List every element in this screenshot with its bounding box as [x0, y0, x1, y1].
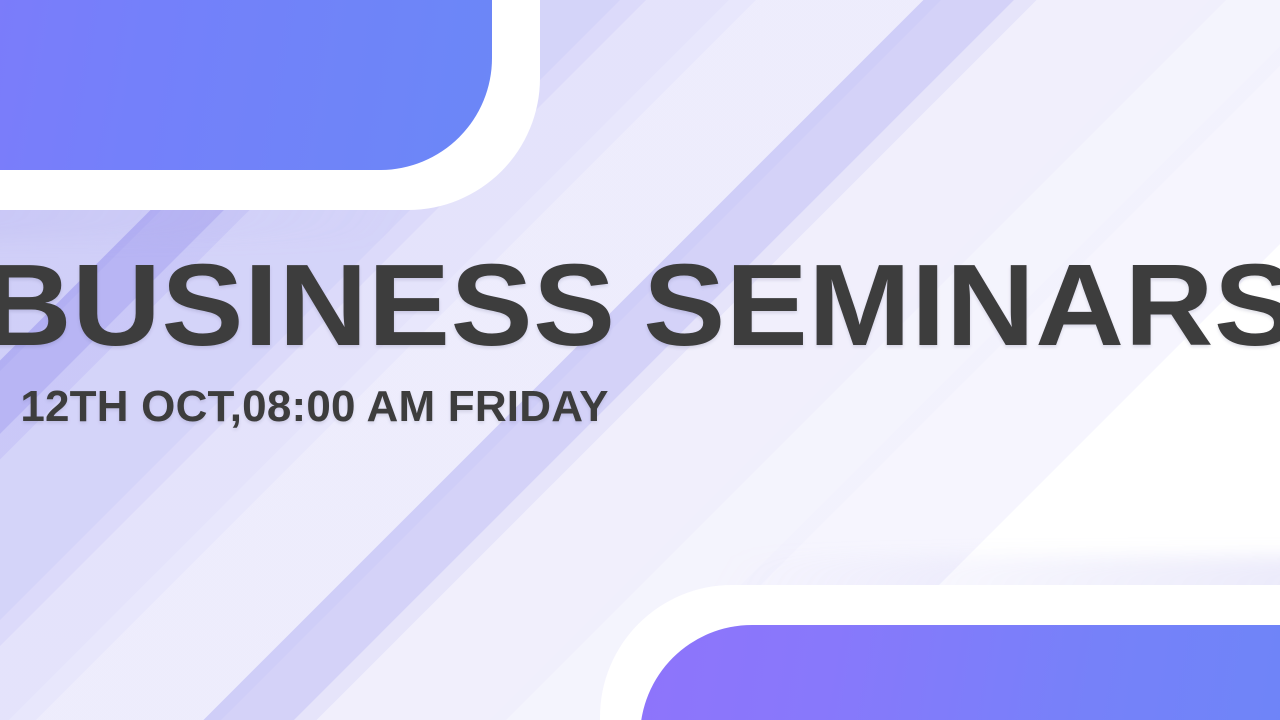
poster-text-block: BUSINESSSEMINARS 12TH OCT,08:00 AM FRIDA…: [0, 0, 1280, 720]
poster-title-word-seminars: SEMINARS: [644, 240, 1280, 370]
poster-canvas: BUSINESSSEMINARS 12TH OCT,08:00 AM FRIDA…: [0, 0, 1280, 720]
poster-title: BUSINESSSEMINARS: [0, 247, 1280, 363]
poster-subtitle: 12TH OCT,08:00 AM FRIDAY: [20, 385, 1259, 429]
poster-title-word-business: BUSINESS: [0, 240, 616, 370]
